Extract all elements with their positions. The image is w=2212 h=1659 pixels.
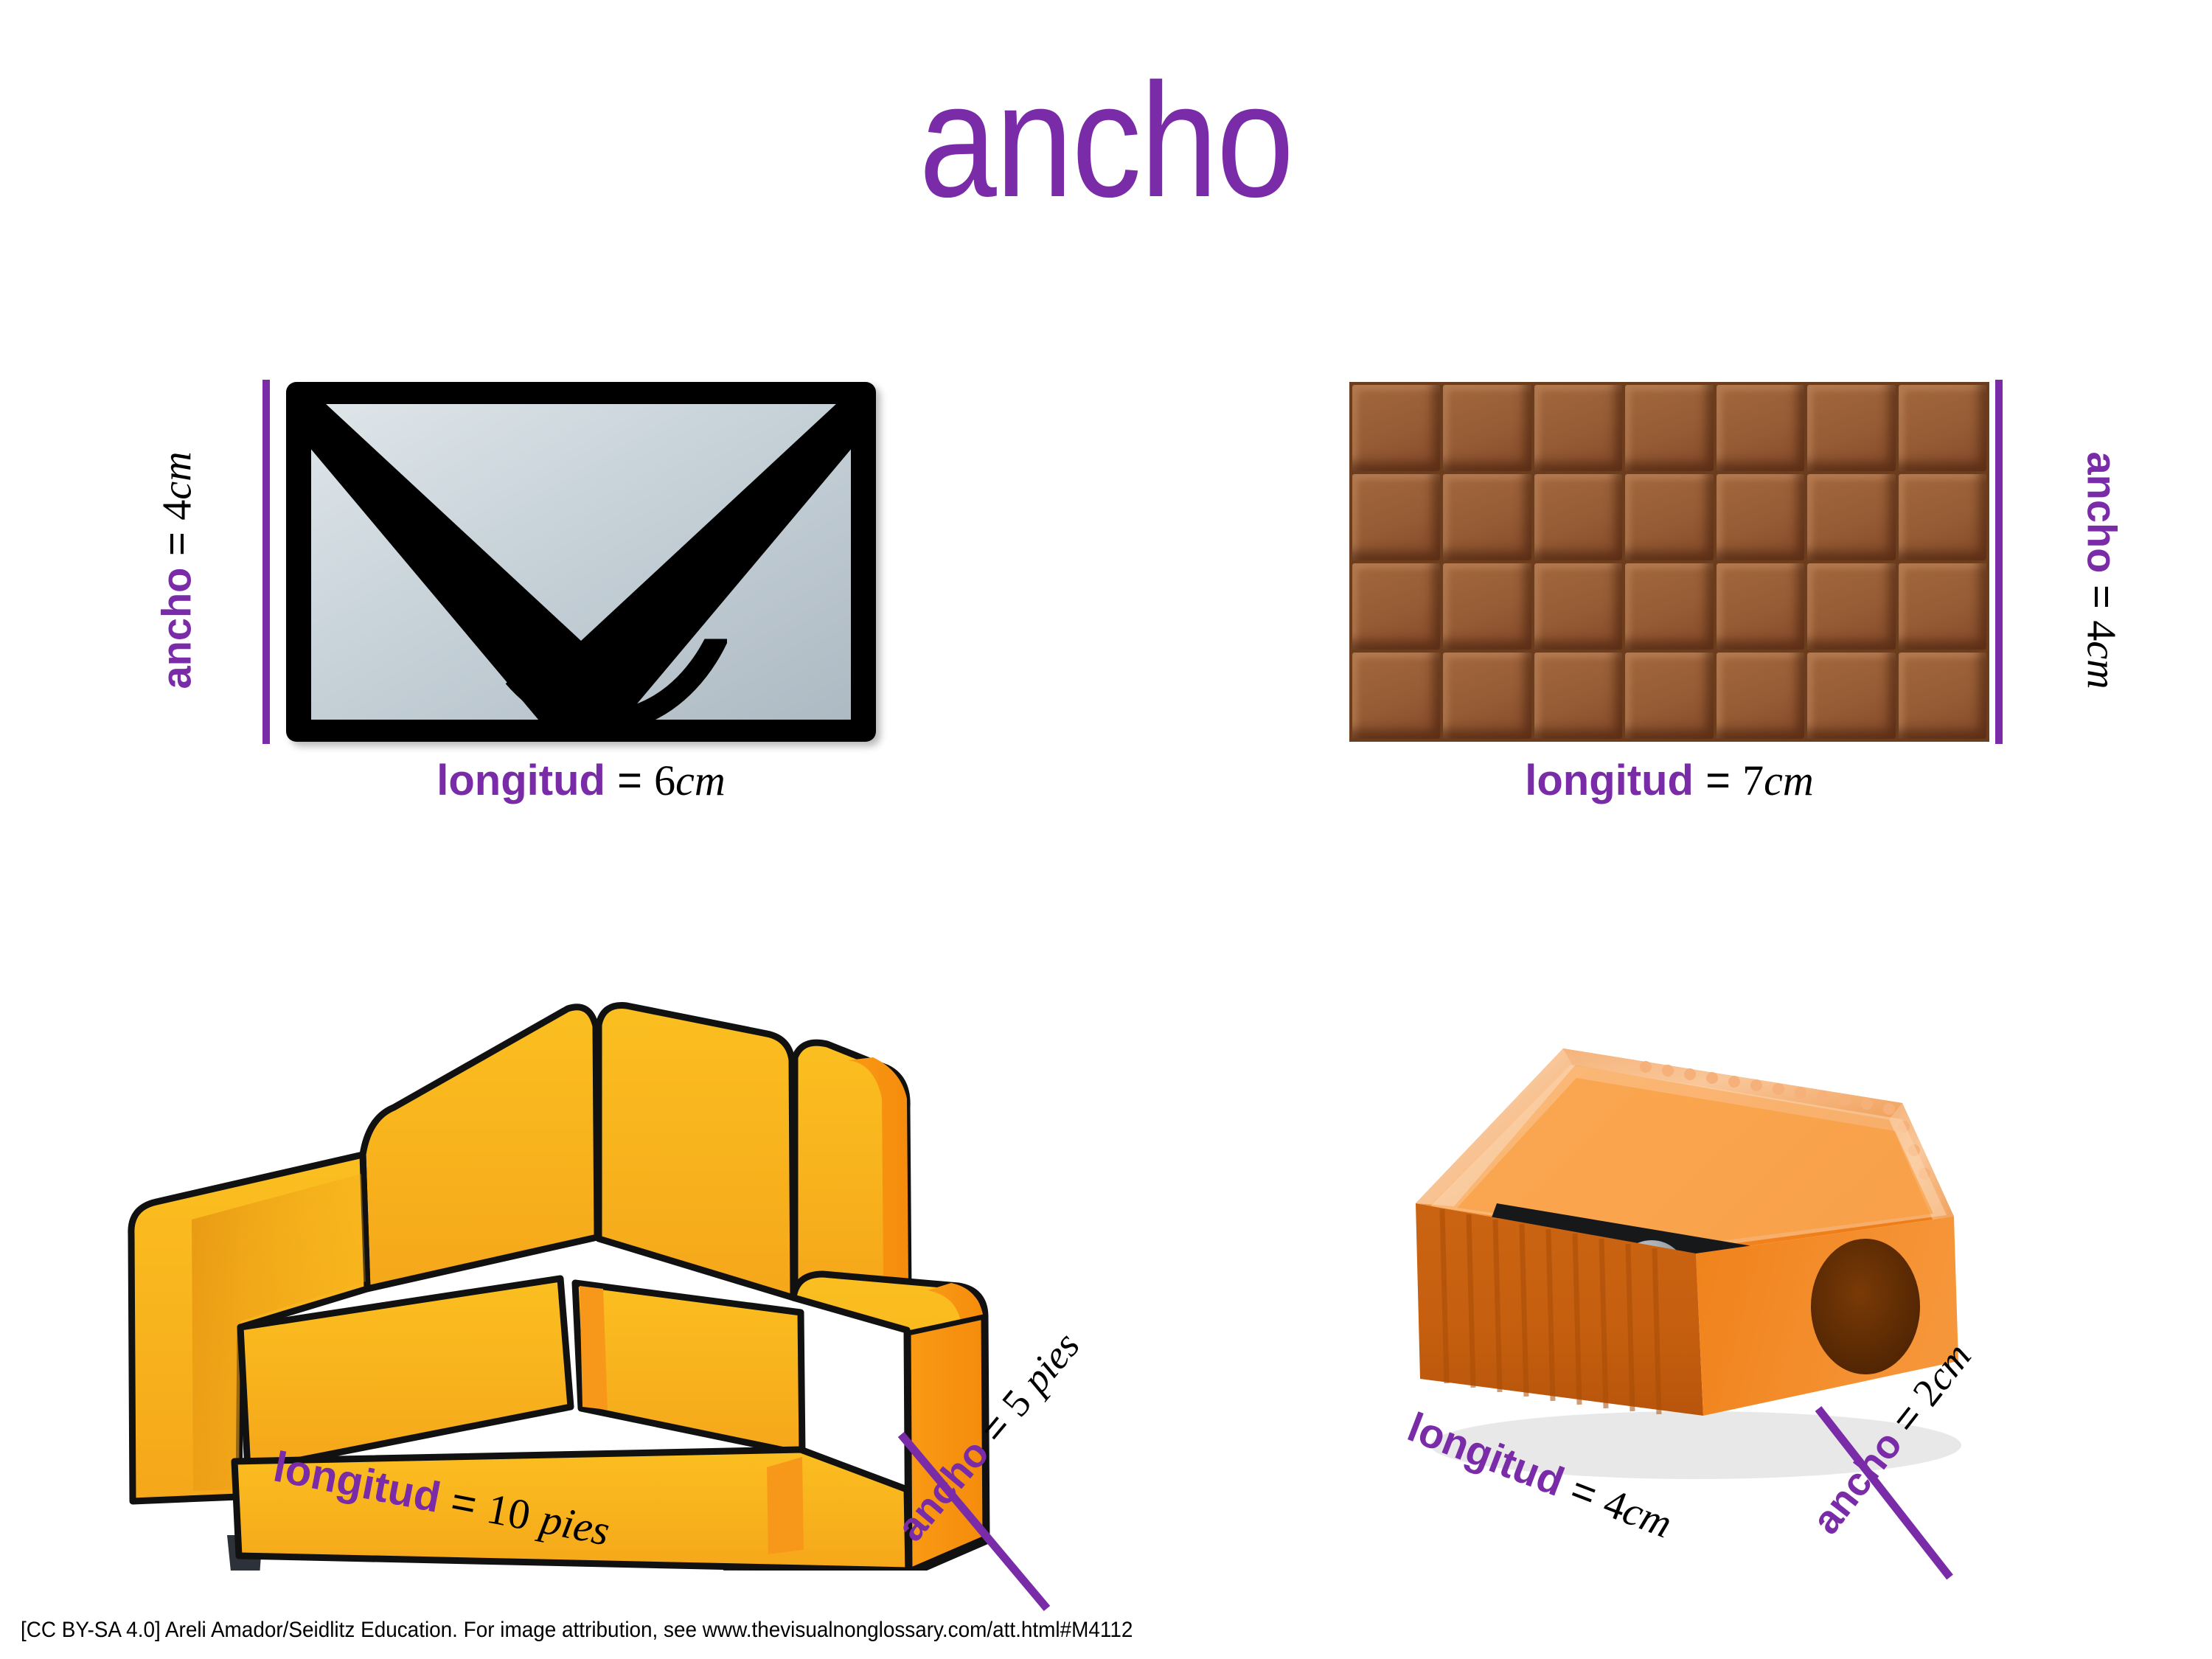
envelope-body: [311, 404, 851, 720]
chocolate-length-unit: cm: [1764, 757, 1814, 804]
chocolate-bar-illustration: [1349, 382, 1989, 742]
sofa-length-equals: =: [447, 1477, 481, 1528]
attribution-footer: [CC BY-SA 4.0] Areli Amador/Seidlitz Edu…: [21, 1618, 1133, 1643]
envelope-illustration: [286, 382, 876, 742]
chocolate-length-equals: =: [1705, 757, 1731, 804]
envelope-width-label: ancho = 4cm: [156, 379, 198, 762]
chocolate-width-term: ancho: [2079, 451, 2126, 573]
poster-canvas: ancho ancho = 4cm longitud = 6cm ancho =…: [0, 0, 2212, 1659]
chocolate-width-value: 4: [2079, 620, 2124, 641]
chocolate-width-rule: [1995, 380, 2003, 744]
envelope-length-label: longitud = 6cm: [286, 759, 876, 802]
envelope-width-rule: [262, 380, 270, 744]
envelope-width-equals: =: [153, 532, 200, 556]
chocolate-width-equals: =: [2079, 585, 2126, 609]
chocolate-length-term: longitud: [1525, 757, 1694, 804]
envelope-length-value: 6: [654, 757, 675, 804]
chocolate-length-value: 7: [1742, 757, 1764, 804]
sofa-illustration: [103, 981, 1047, 1571]
sharpener-length-equals: =: [1565, 1466, 1604, 1518]
chocolate-width-label: ancho = 4cm: [2081, 379, 2123, 762]
envelope-width-term: ancho: [153, 568, 200, 689]
sofa-length-value: 10: [483, 1484, 534, 1540]
envelope-length-term: longitud: [437, 757, 605, 804]
page-title: ancho: [155, 59, 2057, 221]
envelope-flap-curve-icon: [457, 543, 750, 720]
chocolate-width-unit: cm: [2079, 641, 2124, 689]
chocolate-length-label: longitud = 7cm: [1349, 759, 1989, 802]
sofa-svg: [103, 981, 1047, 1571]
envelope-width-value: 4: [155, 500, 201, 521]
envelope-width-unit: cm: [155, 451, 201, 499]
envelope-length-equals: =: [617, 757, 642, 804]
envelope-length-unit: cm: [675, 757, 726, 804]
